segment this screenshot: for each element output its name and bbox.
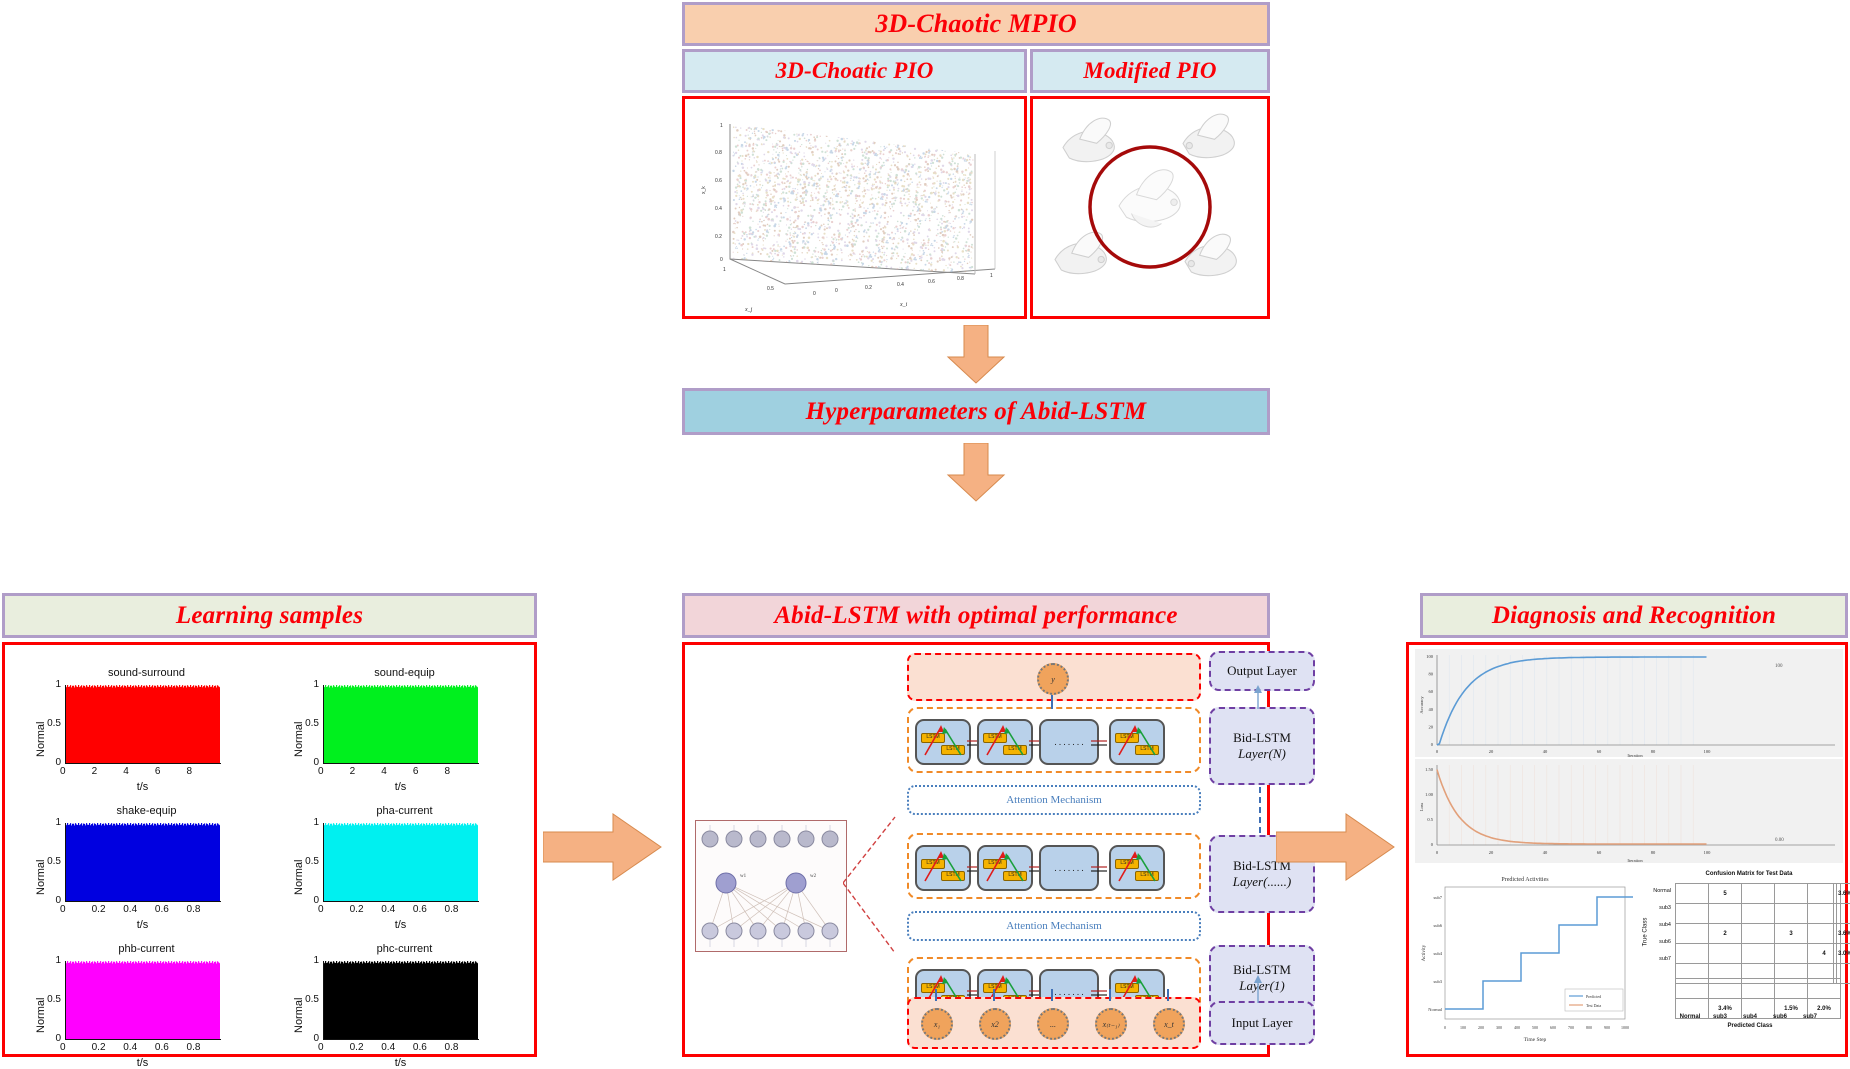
- learning-samples-box: sound-surround10.5002468Normalt/ssound-e…: [2, 642, 537, 1057]
- confusion-cell: [1742, 924, 1775, 944]
- svg-text:1.00: 1.00: [1425, 792, 1434, 797]
- sample-plot-xlabel: t/s: [323, 1057, 478, 1069]
- chaotic-pio-text: 3D-Choatic PIO: [775, 58, 933, 84]
- sample-plot-xlabel: t/s: [65, 1057, 220, 1069]
- svg-text:sub4: sub4: [1433, 951, 1442, 956]
- svg-text:80: 80: [1651, 749, 1656, 754]
- svg-text:w2: w2: [810, 874, 817, 879]
- confusion-ylabel: True Class: [1642, 918, 1648, 947]
- svg-text:1000: 1000: [1621, 1025, 1629, 1030]
- confusion-cell: [1676, 884, 1709, 904]
- arrow-lstm-to-diagnosis: [1276, 812, 1396, 882]
- sample-plot-sound-equip: sound-equip10.5002468Normalt/s: [323, 667, 486, 791]
- learning-samples-text: Learning samples: [176, 602, 363, 630]
- arrow-samples-to-lstm: [543, 812, 663, 882]
- lstm-cell: LSTMLSTM: [1109, 845, 1165, 891]
- sample-plot-title: phb-current: [65, 943, 228, 955]
- svg-text:x_i: x_i: [899, 302, 908, 308]
- svg-text:900: 900: [1604, 1025, 1610, 1030]
- doves-box: [1030, 96, 1270, 319]
- confusion-cell: [1676, 924, 1709, 944]
- lstm-cell: LSTMLSTM: [977, 719, 1033, 765]
- svg-text:20: 20: [1489, 850, 1494, 855]
- sample-plot-title: pha-current: [323, 805, 486, 817]
- svg-text:0.4: 0.4: [715, 206, 722, 212]
- lstm-architecture: w1w2yLSTMLSTMLSTMLSTM. . . . . . .LSTMLS…: [685, 645, 1267, 1054]
- svg-text:0: 0: [835, 288, 838, 294]
- svg-text:sub3: sub3: [1433, 979, 1442, 984]
- svg-text:x_k: x_k: [701, 186, 707, 194]
- layer-label-line2: Layer(N): [1233, 746, 1291, 762]
- modified-pio-banner: Modified PIO: [1030, 49, 1270, 93]
- confusion-row: 23: [1676, 924, 1841, 944]
- lstm-cell: LSTMLSTM: [915, 719, 971, 765]
- confusion-matrix-grid: 5234: [1675, 883, 1841, 984]
- confusion-cell: [1676, 904, 1709, 924]
- confusion-row-label: sub7: [1639, 956, 1671, 962]
- svg-text:0.8: 0.8: [715, 150, 722, 156]
- input-node-1: x₁: [921, 1008, 953, 1040]
- arrow-mpio-to-hyper: [946, 325, 1006, 385]
- layer-label-line1: Output Layer: [1227, 663, 1297, 679]
- abid-lstm-banner: Abid-LSTM with optimal performance: [682, 593, 1270, 638]
- svg-text:0.00: 0.00: [1775, 838, 1784, 843]
- svg-text:0.2: 0.2: [715, 234, 722, 240]
- confusion-cell: [1742, 944, 1775, 964]
- lstm-cell: LSTMLSTM: [1109, 719, 1165, 765]
- layer-ellipsis-connector: [1259, 787, 1261, 833]
- svg-text:0: 0: [1436, 850, 1439, 855]
- lstm-cell-ellipsis: . . . . . . .: [1039, 719, 1099, 765]
- svg-text:0: 0: [1431, 742, 1434, 747]
- input-node-3: ...: [1037, 1008, 1069, 1040]
- svg-text:60: 60: [1429, 689, 1434, 694]
- confusion-row: [1676, 904, 1841, 924]
- doves-svg: [1033, 99, 1267, 316]
- confusion-cell: [1775, 884, 1808, 904]
- svg-text:Activity: Activity: [1422, 944, 1427, 961]
- attention-mechanism-1: Attention Mechanism: [907, 785, 1201, 815]
- svg-text:600: 600: [1550, 1025, 1556, 1030]
- bid-lstm-row-1: LSTMLSTMLSTMLSTM. . . . . . .LSTMLSTM: [907, 707, 1201, 773]
- sample-plot-xlabel: t/s: [65, 781, 220, 793]
- accuracy-chart: 020406080100020406080100AccuracyIteratio…: [1415, 649, 1843, 757]
- svg-text:500: 500: [1532, 1025, 1538, 1030]
- svg-text:100: 100: [1704, 850, 1712, 855]
- mpio-title-text: 3D-Chaotic MPIO: [875, 9, 1077, 39]
- svg-text:0: 0: [1444, 1025, 1446, 1030]
- lstm-cell-ellipsis: . . . . . . .: [1039, 845, 1099, 891]
- sample-plot-phc-current: phc-current10.5000.20.40.60.8Normalt/s: [323, 943, 486, 1067]
- svg-text:100: 100: [1460, 1025, 1466, 1030]
- svg-text:x_j: x_j: [744, 307, 753, 313]
- confusion-cell: [1775, 944, 1808, 964]
- svg-text:80: 80: [1651, 850, 1656, 855]
- diagnosis-text: Diagnosis and Recognition: [1492, 602, 1776, 630]
- chaos-scatter-svg: 10.8 0.60.4 0.20 1 0.50 00.2 0.40.6 0.81…: [685, 99, 1024, 316]
- sample-plot-ylabel: Normal: [35, 860, 47, 895]
- confusion-cell: [1676, 944, 1709, 964]
- svg-text:w1: w1: [740, 874, 747, 879]
- confusion-cell: [1742, 904, 1775, 924]
- svg-text:Test Data: Test Data: [1586, 1003, 1601, 1008]
- svg-text:40: 40: [1429, 707, 1434, 712]
- sample-plot-xlabel: t/s: [323, 919, 478, 931]
- confusion-row: 5: [1676, 884, 1841, 904]
- confusion-cell: [1742, 884, 1775, 904]
- sample-plot-xlabel: t/s: [323, 781, 478, 793]
- sample-plot-xlabel: t/s: [65, 919, 220, 931]
- layer-label-5: Input Layer: [1209, 1001, 1315, 1045]
- confusion-row-label: Normal: [1639, 888, 1671, 894]
- svg-text:1: 1: [720, 123, 723, 129]
- svg-text:Loss: Loss: [1419, 803, 1424, 812]
- lstm-cell: LSTMLSTM: [915, 845, 971, 891]
- layer-connector: [1051, 989, 1053, 1001]
- attention-mechanism-2: Attention Mechanism: [907, 911, 1201, 941]
- diagnosis-panel: 020406080100020406080100AccuracyIteratio…: [1409, 645, 1845, 1054]
- sample-plot-title: shake-equip: [65, 805, 228, 817]
- confusion-cell: 3: [1775, 924, 1808, 944]
- layer-connector: [1167, 989, 1169, 1001]
- confusion-row: 4: [1676, 944, 1841, 964]
- svg-text:60: 60: [1597, 850, 1602, 855]
- svg-text:0.2: 0.2: [865, 285, 872, 291]
- svg-text:Time Step: Time Step: [1524, 1037, 1547, 1043]
- diagnosis-banner: Diagnosis and Recognition: [1420, 593, 1848, 638]
- sample-plot-sound-surround: sound-surround10.5002468Normalt/s: [65, 667, 228, 791]
- feature-fan-network: w1w2: [695, 820, 847, 952]
- input-node-5: x_t: [1153, 1008, 1185, 1040]
- layer-label-2: Bid-LSTMLayer(N): [1209, 707, 1315, 785]
- confusion-matrix: Confusion Matrix for Test Data52343.6%3.…: [1639, 869, 1845, 1055]
- sample-plot-ylabel: Normal: [293, 722, 305, 757]
- confusion-cell: 2: [1709, 924, 1742, 944]
- sample-plot-ylabel: Normal: [293, 998, 305, 1033]
- confusion-cell: [1709, 904, 1742, 924]
- sample-plot-shake-equip: shake-equip10.5000.20.40.60.8Normalt/s: [65, 805, 228, 929]
- svg-text:0: 0: [720, 257, 723, 263]
- confusion-row-label: sub3: [1639, 905, 1671, 911]
- input-node-2: x2: [979, 1008, 1011, 1040]
- output-node-y: y: [1037, 663, 1069, 695]
- svg-text:sub7: sub7: [1433, 895, 1442, 900]
- layer-label-line1: Input Layer: [1231, 1015, 1292, 1031]
- svg-text:Iteration: Iteration: [1627, 858, 1643, 863]
- confusion-cell: [1709, 944, 1742, 964]
- svg-text:20: 20: [1489, 749, 1494, 754]
- chaotic-pio-banner: 3D-Choatic PIO: [682, 49, 1027, 93]
- abid-lstm-box: w1w2yLSTMLSTMLSTMLSTM. . . . . . .LSTMLS…: [682, 642, 1270, 1057]
- sample-plot-phb-current: phb-current10.5000.20.40.60.8Normalt/s: [65, 943, 228, 1067]
- svg-text:60: 60: [1597, 749, 1602, 754]
- bid-lstm-row-2: LSTMLSTMLSTMLSTM. . . . . . .LSTMLSTM: [907, 833, 1201, 899]
- svg-text:0: 0: [1436, 749, 1439, 754]
- svg-text:100: 100: [1704, 749, 1712, 754]
- svg-text:100: 100: [1775, 664, 1783, 669]
- sample-plot-ylabel: Normal: [293, 860, 305, 895]
- confusion-row-pct: 3.6%3.6%3.0%: [1833, 883, 1850, 984]
- svg-text:Iteration: Iteration: [1627, 753, 1643, 757]
- svg-text:1.50: 1.50: [1425, 767, 1434, 772]
- svg-text:Accuracy: Accuracy: [1419, 696, 1424, 714]
- confusion-col-label: sub6: [1765, 1014, 1795, 1020]
- layer-label-line1: Bid-LSTM: [1233, 730, 1291, 746]
- svg-text:0: 0: [1431, 842, 1434, 847]
- svg-text:sub6: sub6: [1433, 923, 1442, 928]
- svg-text:Normal: Normal: [1428, 1007, 1442, 1012]
- svg-text:0.4: 0.4: [897, 282, 904, 288]
- confusion-col-label: Normal: [1675, 1014, 1705, 1020]
- svg-text:40: 40: [1543, 850, 1548, 855]
- sample-plot-ylabel: Normal: [35, 998, 47, 1033]
- confusion-col-label: sub7: [1795, 1014, 1825, 1020]
- confusion-col-label: sub3: [1705, 1014, 1735, 1020]
- layer-connector: [1109, 989, 1111, 1001]
- sample-plot-title: sound-surround: [65, 667, 228, 679]
- sample-plot-title: phc-current: [323, 943, 486, 955]
- svg-text:Predicted Activities: Predicted Activities: [1501, 877, 1549, 883]
- lstm-cell: LSTMLSTM: [977, 845, 1033, 891]
- layer-connector: [993, 989, 995, 1001]
- sample-plot-title: sound-equip: [323, 667, 486, 679]
- svg-text:200: 200: [1478, 1025, 1484, 1030]
- svg-text:Predicted: Predicted: [1586, 994, 1601, 999]
- sample-plot-grid: sound-surround10.5002468Normalt/ssound-e…: [5, 645, 534, 1054]
- confusion-xlabel: Predicted Class: [1675, 1023, 1825, 1029]
- svg-text:0.8: 0.8: [957, 276, 964, 282]
- confusion-col-label: sub4: [1735, 1014, 1765, 1020]
- loss-chart: 00.51.001.50020406080100LossIteration0.0…: [1415, 759, 1843, 863]
- diagnosis-box: 020406080100020406080100AccuracyIteratio…: [1406, 642, 1848, 1057]
- output-connector: [1051, 695, 1053, 709]
- svg-text:700: 700: [1568, 1025, 1574, 1030]
- svg-text:300: 300: [1496, 1025, 1502, 1030]
- output-layer-zone: y: [907, 653, 1201, 701]
- svg-text:1: 1: [990, 273, 993, 279]
- sample-plot-ylabel: Normal: [35, 722, 47, 757]
- svg-text:1: 1: [723, 267, 726, 273]
- svg-text:20: 20: [1429, 724, 1434, 729]
- arrow-hyper-to-abid: [946, 443, 1006, 503]
- layer-connector: [935, 989, 937, 1001]
- svg-text:0.5: 0.5: [767, 286, 774, 292]
- confusion-matrix-title: Confusion Matrix for Test Data: [1669, 871, 1829, 877]
- hyperparameters-text: Hyperparameters of Abid-LSTM: [806, 398, 1147, 426]
- confusion-col-pct: 3.4%1.5%2.0%: [1675, 978, 1841, 1019]
- svg-text:100: 100: [1426, 654, 1434, 659]
- chaos-plot-box: 10.8 0.60.4 0.20 1 0.50 00.2 0.40.6 0.81…: [682, 96, 1027, 319]
- svg-text:40: 40: [1543, 749, 1548, 754]
- learning-samples-banner: Learning samples: [2, 593, 537, 638]
- predicted-activities-chart: Predicted ActivitiesNormalsub3sub4sub6su…: [1415, 869, 1633, 1055]
- svg-text:800: 800: [1586, 1025, 1592, 1030]
- svg-text:0.6: 0.6: [928, 279, 935, 285]
- hyperparameters-banner: Hyperparameters of Abid-LSTM: [682, 388, 1270, 435]
- confusion-cell: [1775, 904, 1808, 924]
- svg-text:400: 400: [1514, 1025, 1520, 1030]
- abid-lstm-text: Abid-LSTM with optimal performance: [774, 602, 1177, 630]
- input-node-4: x₍ₜ₋₁₎: [1095, 1008, 1127, 1040]
- svg-text:0: 0: [813, 291, 816, 297]
- svg-text:0.6: 0.6: [715, 178, 722, 184]
- sample-plot-pha-current: pha-current10.5000.20.40.60.8Normalt/s: [323, 805, 486, 929]
- mpio-title-banner: 3D-Chaotic MPIO: [682, 2, 1270, 46]
- svg-text:80: 80: [1429, 672, 1434, 677]
- input-layer-zone: x₁x2...x₍ₜ₋₁₎x_t: [907, 997, 1201, 1049]
- svg-text:0.5: 0.5: [1427, 817, 1433, 822]
- modified-pio-text: Modified PIO: [1083, 58, 1216, 84]
- confusion-cell: 5: [1709, 884, 1742, 904]
